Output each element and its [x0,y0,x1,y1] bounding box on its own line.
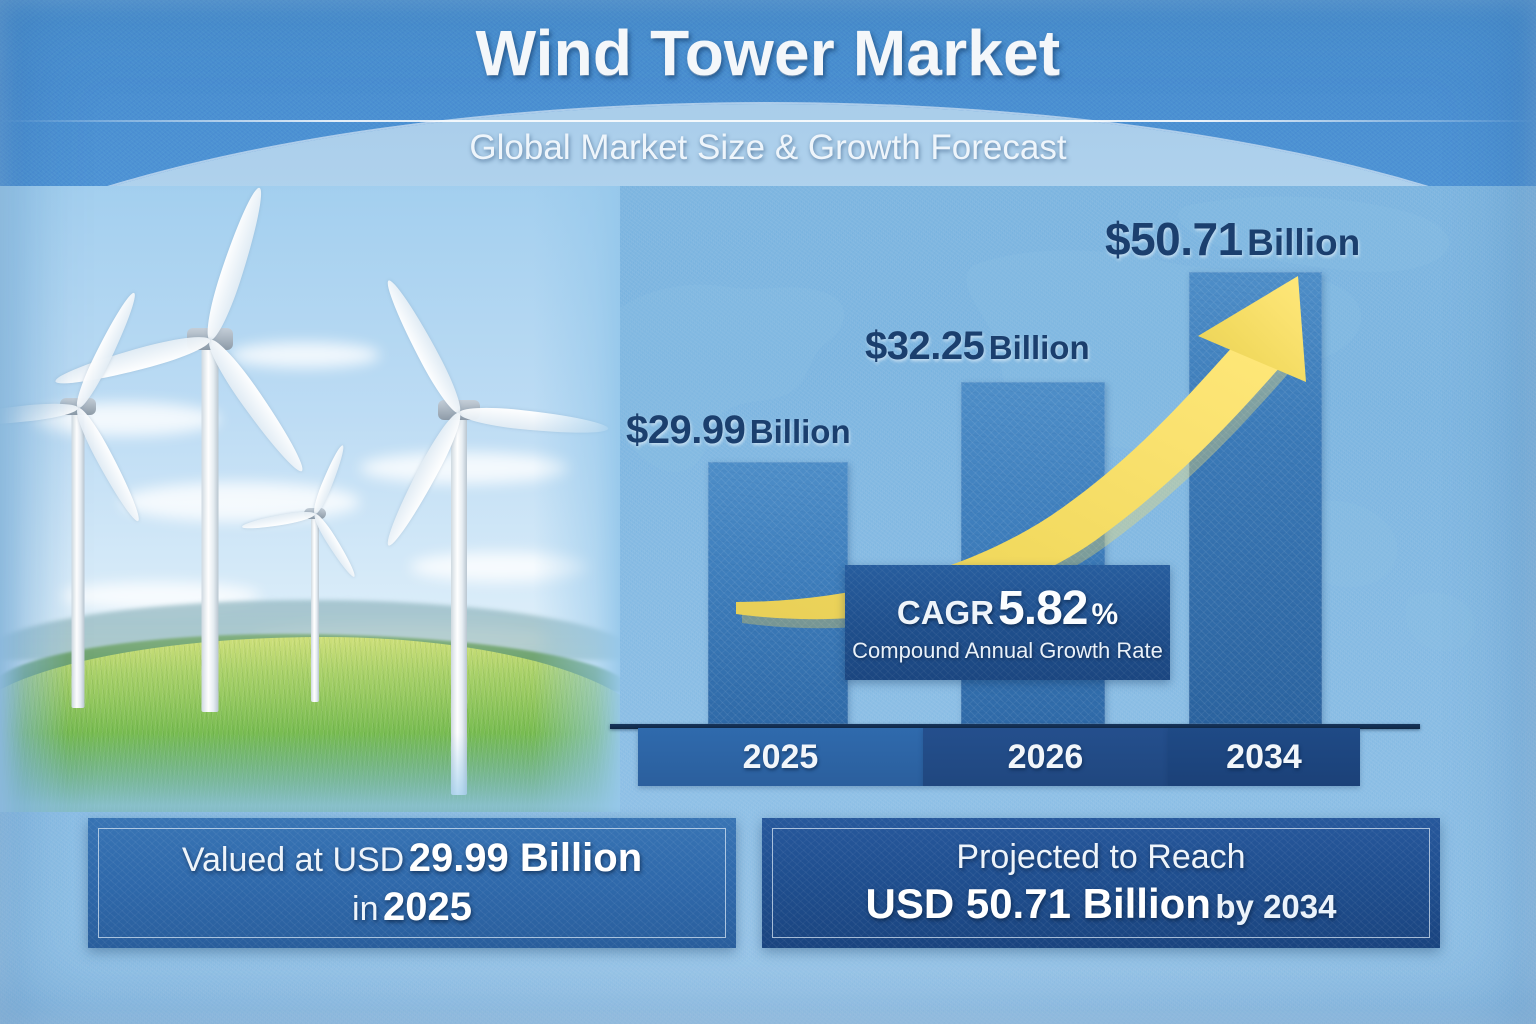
value-label-2034: $50.71 Billion [1105,212,1360,266]
callout-left-line1-bold: 29.99 Billion [409,836,642,880]
page-title: Wind Tower Market [0,16,1536,90]
year-band-2026: 2026 [923,728,1168,786]
year-band-2034: 2034 [1168,728,1360,786]
callout-right-line2-bold: USD 50.71 Billion [866,880,1211,927]
cagr-label: CAGR [897,594,994,632]
title-divider [0,120,1536,122]
year-label-2034: 2034 [1168,728,1360,786]
value-label-2026: $32.25 Billion [865,324,1090,369]
callout-left-line2-bold: 2025 [383,885,472,929]
callout-left-line2-regular: in [352,890,378,928]
callout-projected-2034: Projected to Reach USD 50.71 Billion by … [762,818,1440,948]
callout-valued-2025: Valued at USD 29.99 Billion in 2025 [88,818,736,948]
cagr-badge: CAGR 5.82 % Compound Annual Growth Rate [845,565,1170,680]
callout-right-line1: Projected to Reach [956,838,1245,876]
bar-chart: $29.99 Billion $32.25 Billion $50.71 Bil… [600,190,1480,790]
bar-2025 [708,462,848,724]
value-label-2025: $29.99 Billion [626,408,851,453]
year-band-2025: 2025 [638,728,923,786]
cagr-description: Compound Annual Growth Rate [852,638,1163,664]
bar-2034 [1189,272,1322,724]
cagr-percent-sign: % [1091,598,1118,632]
callout-left-line1-regular: Valued at USD [182,841,404,879]
callout-right-line2-regular: by 2034 [1215,888,1336,925]
cagr-value: 5.82 [998,581,1087,636]
infographic-canvas: Wind Tower Market Global Market Size & G… [0,0,1536,1024]
page-subtitle: Global Market Size & Growth Forecast [0,128,1536,168]
wind-turbine-icon [0,152,620,812]
year-label-2026: 2026 [923,728,1168,786]
year-label-2025: 2025 [638,728,923,786]
